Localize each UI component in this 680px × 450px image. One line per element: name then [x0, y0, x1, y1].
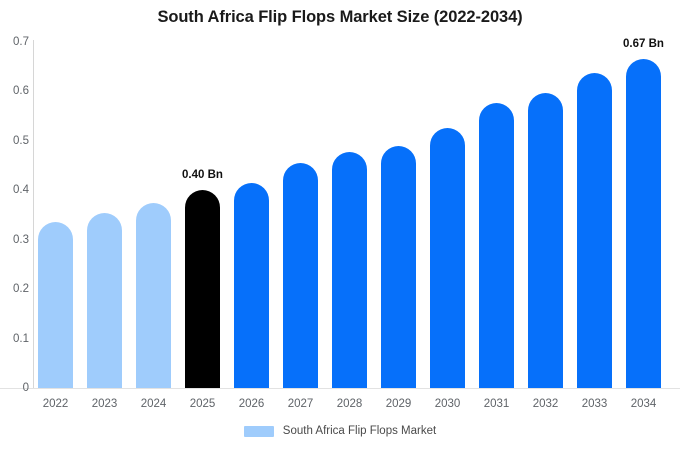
x-axis-tick-2023: 2023 — [92, 398, 118, 410]
bar-2034[interactable] — [626, 59, 661, 388]
x-axis-tick-2034: 2034 — [631, 398, 657, 410]
x-axis-tick-2027: 2027 — [288, 398, 314, 410]
chart-legend: South Africa Flip Flops Market — [0, 425, 680, 437]
bar-2029[interactable] — [381, 146, 416, 388]
x-axis-tick-2022: 2022 — [43, 398, 69, 410]
legend-label: South Africa Flip Flops Market — [283, 425, 436, 437]
bar-2022[interactable] — [38, 222, 73, 388]
bar-2028[interactable] — [332, 152, 367, 388]
x-axis-tick-2033: 2033 — [582, 398, 608, 410]
bars-layer: 20222023202420250.40 Bn20262027202820292… — [0, 0, 680, 450]
bar-2031[interactable] — [479, 103, 514, 388]
bar-value-label-2025: 0.40 Bn — [182, 169, 223, 181]
x-axis-tick-2024: 2024 — [141, 398, 167, 410]
bar-2032[interactable] — [528, 93, 563, 388]
legend-swatch — [244, 426, 274, 437]
x-axis-tick-2029: 2029 — [386, 398, 412, 410]
bar-2026[interactable] — [234, 183, 269, 388]
x-axis-tick-2030: 2030 — [435, 398, 461, 410]
x-axis-tick-2026: 2026 — [239, 398, 265, 410]
x-axis-tick-2032: 2032 — [533, 398, 559, 410]
x-axis-tick-2028: 2028 — [337, 398, 363, 410]
chart-container: South Africa Flip Flops Market Size (202… — [0, 0, 680, 450]
bar-2033[interactable] — [577, 73, 612, 388]
bar-2023[interactable] — [87, 213, 122, 388]
bar-value-label-2034: 0.67 Bn — [623, 38, 664, 50]
bar-2024[interactable] — [136, 203, 171, 388]
x-axis-tick-2025: 2025 — [190, 398, 216, 410]
bar-2030[interactable] — [430, 128, 465, 388]
bar-2025[interactable] — [185, 190, 220, 388]
x-axis-tick-2031: 2031 — [484, 398, 510, 410]
bar-2027[interactable] — [283, 163, 318, 388]
